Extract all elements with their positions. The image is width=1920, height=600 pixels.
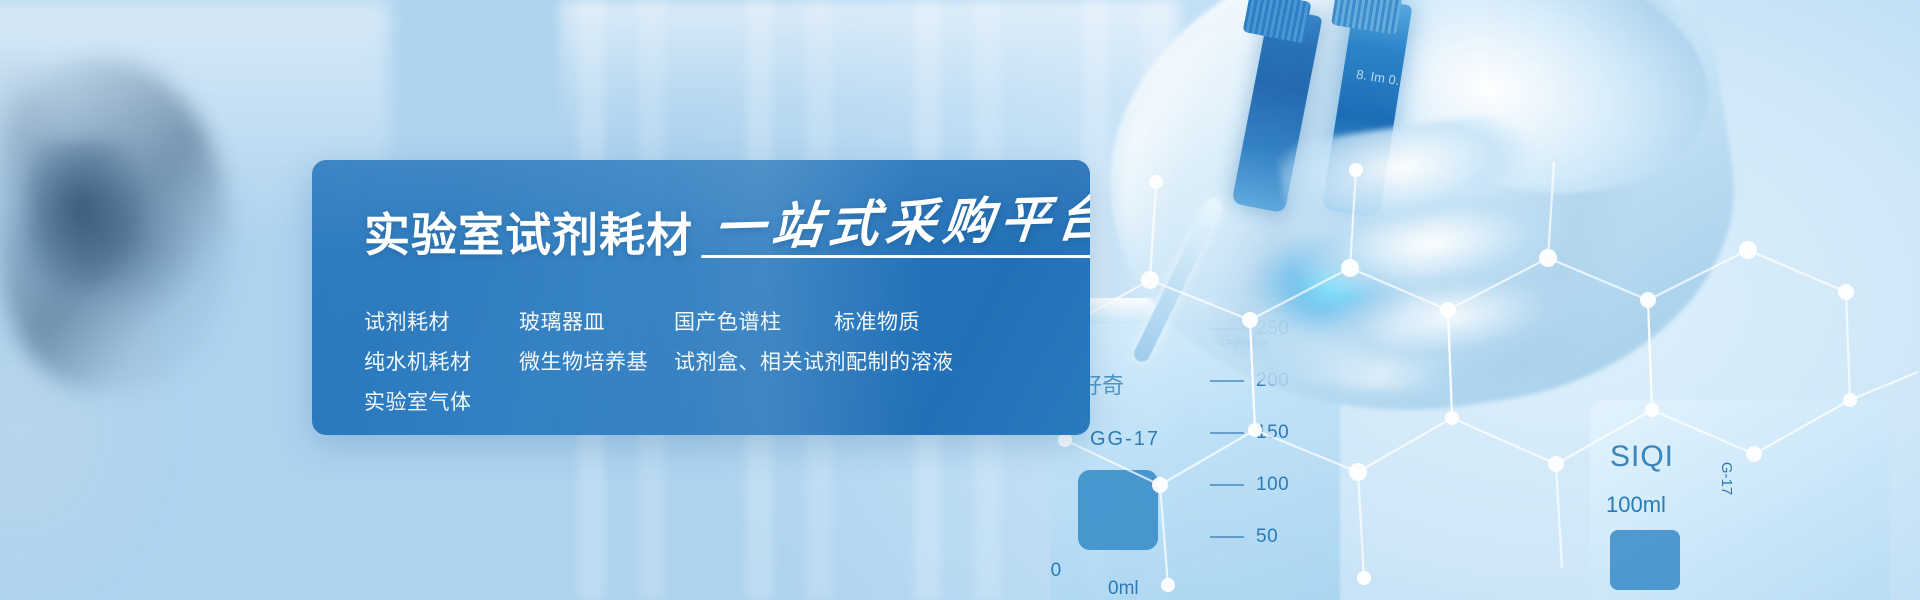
- banner-stage: 好奇 GG-17 50 0ml 250 APPROX 200 150 100: [0, 0, 1920, 600]
- category-list: 试剂耗材 玻璃器皿 国产色谱柱 标准物质 纯水机耗材 微生物培养基 试剂盒、相关…: [364, 302, 1090, 422]
- bottle-volume-label: 100ml: [1606, 492, 1666, 518]
- headline: 实验室试剂耗材 一站式采购平台: [364, 198, 1090, 258]
- category-row: 实验室气体: [364, 382, 1090, 422]
- category-item-reagent-consumables[interactable]: 试剂耗材: [364, 312, 519, 333]
- bottle-brand-label: SIQI: [1610, 440, 1674, 474]
- graduation-row: 150: [1210, 424, 1330, 476]
- graduation-tick: [1210, 484, 1244, 486]
- beaker-50-label: 50: [1050, 560, 1061, 582]
- graduation-value: 50: [1256, 526, 1278, 548]
- headline-script-wrap: 一站式采购平台: [715, 198, 1090, 258]
- graduation-value: 150: [1256, 422, 1289, 444]
- headline-primary-text: 实验室试剂耗材: [364, 212, 693, 258]
- category-item-reference-material[interactable]: 标准物质: [834, 312, 920, 333]
- graduation-tick: [1210, 536, 1244, 538]
- graduation-tick: [1210, 432, 1244, 434]
- category-item-reagent-kits-solutions[interactable]: 试剂盒、相关试剂配制的溶液: [674, 352, 954, 373]
- beaker-liquid-patch: [1078, 470, 1158, 550]
- category-item-microbial-culture-media[interactable]: 微生物培养基: [519, 352, 674, 373]
- graduation-tick: [1210, 380, 1244, 382]
- beaker-volume-label: 0ml: [1108, 578, 1139, 600]
- category-item-domestic-chromatography-column[interactable]: 国产色谱柱: [674, 312, 834, 333]
- category-row: 试剂耗材 玻璃器皿 国产色谱柱 标准物质: [364, 302, 1090, 342]
- promo-panel: 实验室试剂耗材 一站式采购平台 试剂耗材 玻璃器皿 国产色谱柱 标准物质 纯水机…: [312, 160, 1090, 435]
- category-item-glassware[interactable]: 玻璃器皿: [519, 312, 674, 333]
- graduation-row: 100: [1210, 476, 1330, 528]
- graduation-value: 100: [1256, 474, 1289, 496]
- headline-underline: [701, 255, 1090, 258]
- promo-panel-content: 实验室试剂耗材 一站式采购平台 试剂耗材 玻璃器皿 国产色谱柱 标准物质 纯水机…: [312, 160, 1090, 422]
- category-row: 纯水机耗材 微生物培养基 试剂盒、相关试剂配制的溶液: [364, 342, 1090, 382]
- bottle-side-code-label: G-17: [1718, 462, 1735, 495]
- category-item-laboratory-gases[interactable]: 实验室气体: [364, 392, 519, 413]
- headline-script-text: 一站式采购平台: [712, 193, 1090, 253]
- beaker-code-label: GG-17: [1090, 428, 1160, 451]
- background-left-microscope-detail: [26, 140, 146, 290]
- graduation-row: 50: [1210, 528, 1330, 580]
- gloved-fingers-icon: [1276, 98, 1645, 441]
- lab-photo-right: 好奇 GG-17 50 0ml 250 APPROX 200 150 100: [1050, 0, 1920, 600]
- bottle-liquid-patch: [1610, 530, 1680, 590]
- category-item-water-purifier-consumables[interactable]: 纯水机耗材: [364, 352, 519, 373]
